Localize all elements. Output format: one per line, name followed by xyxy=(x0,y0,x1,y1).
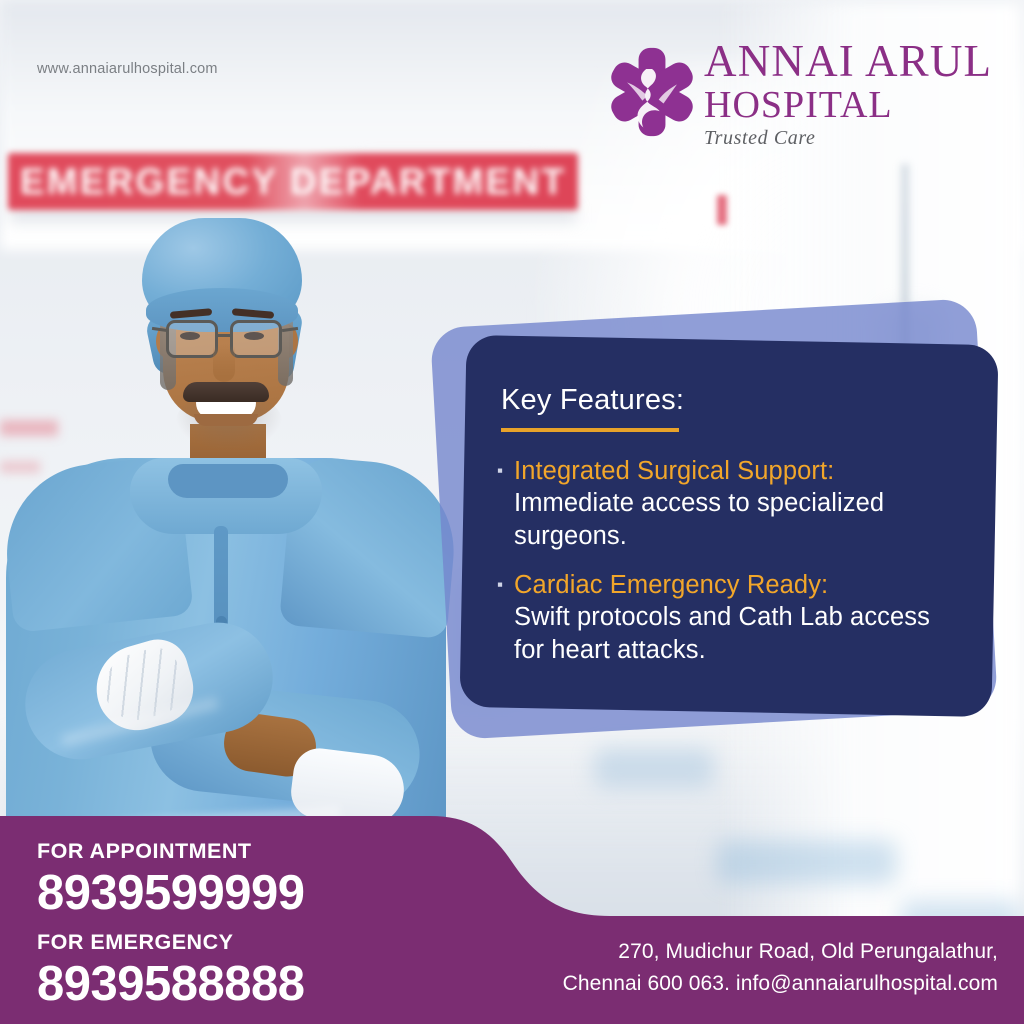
bullet-icon: ▪ xyxy=(497,456,503,553)
star-of-life-caduceus-icon xyxy=(604,44,700,140)
key-features-underline xyxy=(501,428,679,432)
emergency-number[interactable]: 8939588888 xyxy=(37,956,457,1012)
feature-heading: Integrated Surgical Support: xyxy=(514,456,961,487)
surgeon-glasses-lens-left xyxy=(166,320,218,358)
footer-contact-numbers: FOR APPOINTMENT 8939599999 FOR EMERGENCY… xyxy=(37,839,457,1024)
list-item: ▪ Cardiac Emergency Ready: Swift protoco… xyxy=(497,570,961,667)
feature-body: Cardiac Emergency Ready: Swift protocols… xyxy=(514,570,961,667)
surgeon-lower-lip xyxy=(194,414,258,426)
appointment-label: FOR APPOINTMENT xyxy=(37,839,457,864)
emergency-label: FOR EMERGENCY xyxy=(37,930,457,955)
key-features-content: Key Features: ▪ Integrated Surgical Supp… xyxy=(463,340,995,712)
surgeon-nose xyxy=(213,346,235,382)
address-line-1: 270, Mudichur Road, Old Perungalathur, xyxy=(563,936,998,968)
feature-description: Swift protocols and Cath Lab access for … xyxy=(514,601,961,667)
surgeon-mustache xyxy=(183,382,269,402)
surgeon-collar-inner xyxy=(168,464,288,498)
logo-wordmark: ANNAI ARUL HOSPITAL Trusted Care xyxy=(704,38,1000,150)
poster-canvas: EMERGENCY DEPARTMENT xyxy=(0,0,1024,1024)
surgeon-photo xyxy=(0,196,470,836)
feature-body: Integrated Surgical Support: Immediate a… xyxy=(514,456,961,553)
appointment-number[interactable]: 8939599999 xyxy=(37,865,457,921)
bullet-icon: ▪ xyxy=(497,570,503,667)
surgeon-glasses-lens-right xyxy=(230,320,282,358)
address-line-2[interactable]: Chennai 600 063. info@annaiarulhospital.… xyxy=(563,968,998,1000)
key-features-card: Key Features: ▪ Integrated Surgical Supp… xyxy=(459,335,998,717)
hospital-logo[interactable]: ANNAI ARUL HOSPITAL Trusted Care xyxy=(600,38,1000,150)
background-trolley-3 xyxy=(594,748,714,788)
background-red-marker xyxy=(717,195,727,225)
surgeon-glasses-bridge xyxy=(218,334,232,337)
feature-heading: Cardiac Emergency Ready: xyxy=(514,570,961,601)
footer-address: 270, Mudichur Road, Old Perungalathur, C… xyxy=(563,936,998,1000)
key-features-title: Key Features: xyxy=(501,384,961,417)
feature-description: Immediate access to specialized surgeons… xyxy=(514,487,961,553)
logo-sub: HOSPITAL xyxy=(704,85,1000,125)
list-item: ▪ Integrated Surgical Support: Immediate… xyxy=(497,456,961,553)
website-url[interactable]: www.annaiarulhospital.com xyxy=(37,61,218,77)
logo-name: ANNAI ARUL xyxy=(704,38,1000,85)
logo-tagline: Trusted Care xyxy=(704,126,1000,150)
key-features-list: ▪ Integrated Surgical Support: Immediate… xyxy=(497,456,961,667)
